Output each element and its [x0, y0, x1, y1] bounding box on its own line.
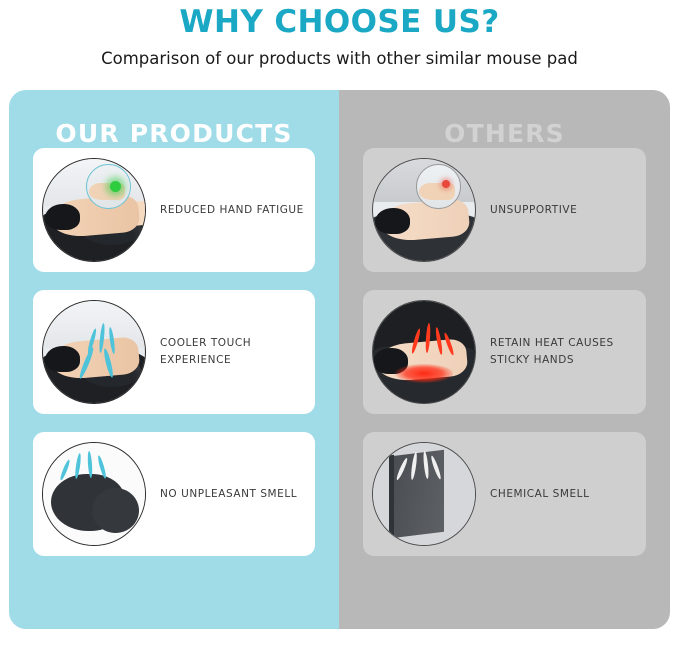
thumb-chemical-smell: [372, 442, 476, 546]
thumb-reduced-hand-fatigue: [42, 158, 146, 262]
card-label: NO UNPLEASANT SMELL: [160, 486, 297, 503]
card-label: UNSUPPORTIVE: [490, 202, 577, 219]
card-label: COOLER TOUCH EXPERIENCE: [160, 335, 310, 369]
page-title: WHY CHOOSE US?: [0, 2, 679, 42]
thumb-cooler-touch-experience: [42, 300, 146, 404]
thumb-no-unpleasant-smell: [42, 442, 146, 546]
card-label: RETAIN HEAT CAUSES STICKY HANDS: [490, 335, 640, 369]
card-no-unpleasant-smell[interactable]: NO UNPLEASANT SMELL: [33, 432, 315, 556]
card-chemical-smell[interactable]: CHEMICAL SMELL: [363, 432, 646, 556]
page-subtitle: Comparison of our products with other si…: [0, 46, 679, 72]
card-unsupportive[interactable]: UNSUPPORTIVE: [363, 148, 646, 272]
card-list-our-products: REDUCED HAND FATIGUE: [9, 148, 339, 556]
comparison-panel: OUR PRODUCTS: [9, 90, 670, 629]
card-cooler-touch-experience[interactable]: COOLER TOUCH EXPERIENCE: [33, 290, 315, 414]
thumb-retain-heat-sticky-hands: [372, 300, 476, 404]
card-reduced-hand-fatigue[interactable]: REDUCED HAND FATIGUE: [33, 148, 315, 272]
column-our-products: OUR PRODUCTS: [9, 90, 339, 629]
header: WHY CHOOSE US? Comparison of our product…: [0, 0, 679, 72]
thumb-unsupportive: [372, 158, 476, 262]
card-label: REDUCED HAND FATIGUE: [160, 202, 304, 219]
card-retain-heat-sticky-hands[interactable]: RETAIN HEAT CAUSES STICKY HANDS: [363, 290, 646, 414]
card-label: CHEMICAL SMELL: [490, 486, 589, 503]
column-heading-our-products: OUR PRODUCTS: [9, 90, 339, 132]
column-heading-others: OTHERS: [339, 90, 670, 132]
card-list-others: UNSUPPORTIVE RETAIN HEAT CAUSES S: [339, 148, 670, 556]
column-others: OTHERS UNSUPPORTIVE: [339, 90, 670, 629]
